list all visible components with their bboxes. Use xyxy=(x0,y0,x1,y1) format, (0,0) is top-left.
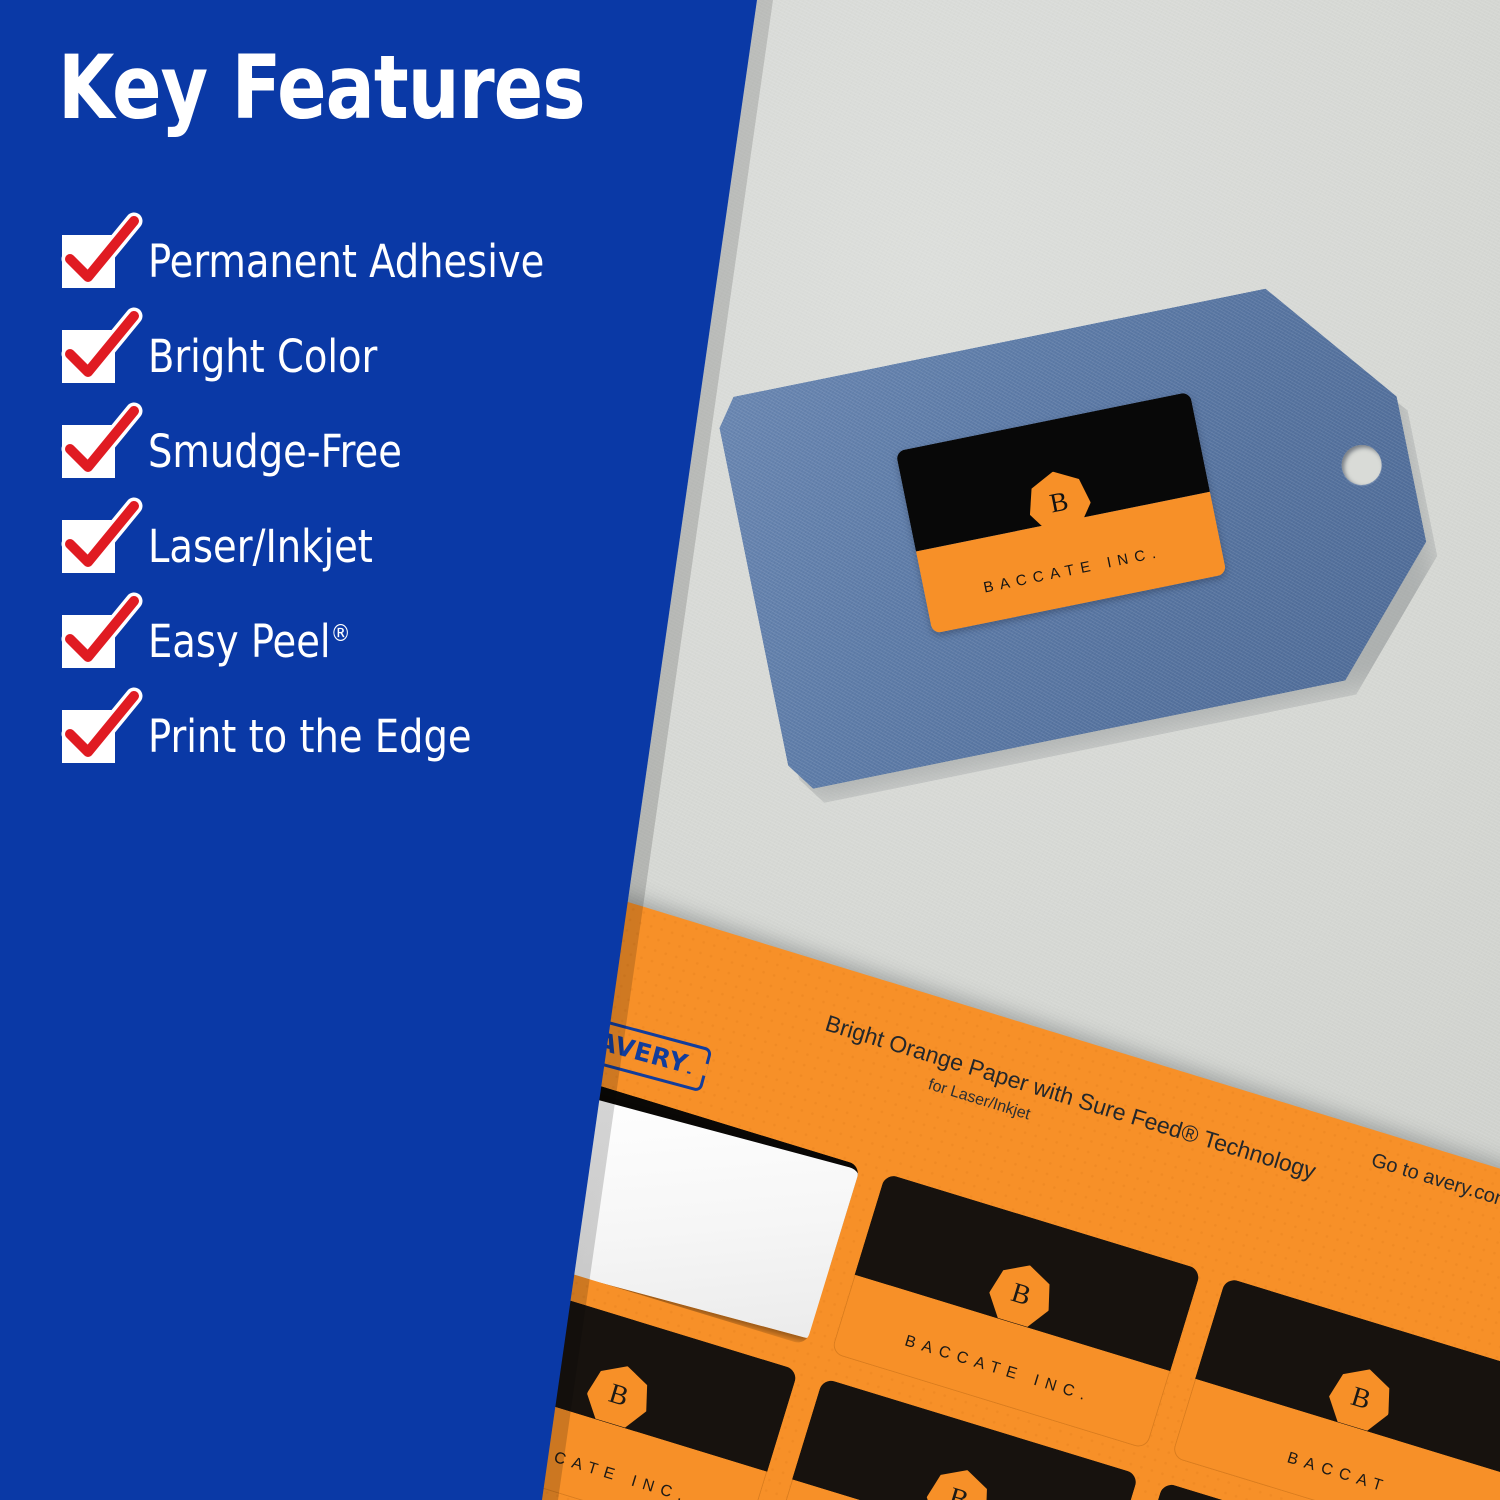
monogram-letter: B xyxy=(1348,1383,1374,1415)
checkbox-checked-icon xyxy=(62,615,115,668)
monogram-letter: B xyxy=(1008,1279,1034,1311)
checkmark-icon xyxy=(60,688,144,772)
checkbox-checked-icon xyxy=(62,520,115,573)
feature-item-bright-color: Bright Color xyxy=(62,309,682,404)
checkmark-icon xyxy=(60,593,144,677)
checkbox-checked-icon xyxy=(62,330,115,383)
monogram-letter: B xyxy=(1047,487,1070,517)
feature-item-print-to-the-edge: Print to the Edge xyxy=(62,689,682,784)
registered-mark: ® xyxy=(331,619,351,647)
monogram-letter: B xyxy=(945,1484,971,1500)
page-title: Key Features xyxy=(58,44,585,132)
feature-item-laser-inkjet: Laser/Inkjet xyxy=(62,499,682,594)
monogram-letter: B xyxy=(606,1380,632,1412)
checkbox-checked-icon xyxy=(62,235,115,288)
feature-label: Permanent Adhesive xyxy=(148,239,544,284)
checkmark-icon xyxy=(60,498,144,582)
checkmark-icon xyxy=(60,213,144,297)
feature-item-easy-peel: Easy Peel® xyxy=(62,594,682,689)
feature-label: Laser/Inkjet xyxy=(148,524,373,569)
checkmark-icon xyxy=(60,308,144,392)
feature-label: Easy Peel® xyxy=(148,619,351,664)
feature-label: Bright Color xyxy=(148,334,377,379)
checkbox-checked-icon xyxy=(62,710,115,763)
checkmark-icon xyxy=(60,403,144,487)
feature-label-text: Easy Peel xyxy=(148,615,331,668)
feature-item-permanent-adhesive: Permanent Adhesive xyxy=(62,214,682,309)
checkbox-checked-icon xyxy=(62,425,115,478)
feature-label: Smudge-Free xyxy=(148,429,402,474)
product-feature-image: B BACCATE INC. Bright Orange Paper with … xyxy=(0,0,1500,1500)
feature-label: Print to the Edge xyxy=(148,714,472,759)
feature-item-smudge-free: Smudge-Free xyxy=(62,404,682,499)
feature-list: Permanent Adhesive Bright Color Smudge-F… xyxy=(62,214,682,784)
